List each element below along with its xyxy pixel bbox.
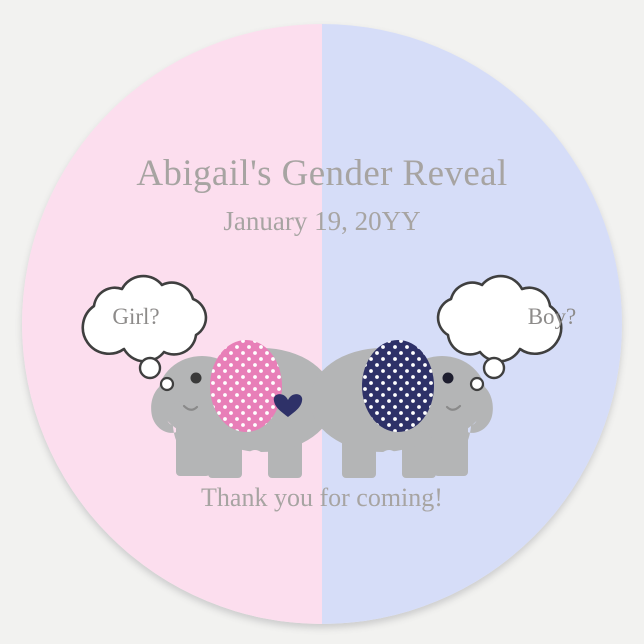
event-date: January 19, 20YY: [22, 206, 622, 237]
thank-you-message: Thank you for coming!: [22, 483, 622, 513]
round-sticker: Girl? Boy? Abigail's Gender Reveal Janua…: [22, 24, 622, 624]
sticker-canvas: Girl? Boy? Abigail's Gender Reveal Janua…: [0, 0, 644, 644]
text-layer: Abigail's Gender Reveal January 19, 20YY…: [22, 24, 622, 624]
page-title: Abigail's Gender Reveal: [22, 152, 622, 195]
